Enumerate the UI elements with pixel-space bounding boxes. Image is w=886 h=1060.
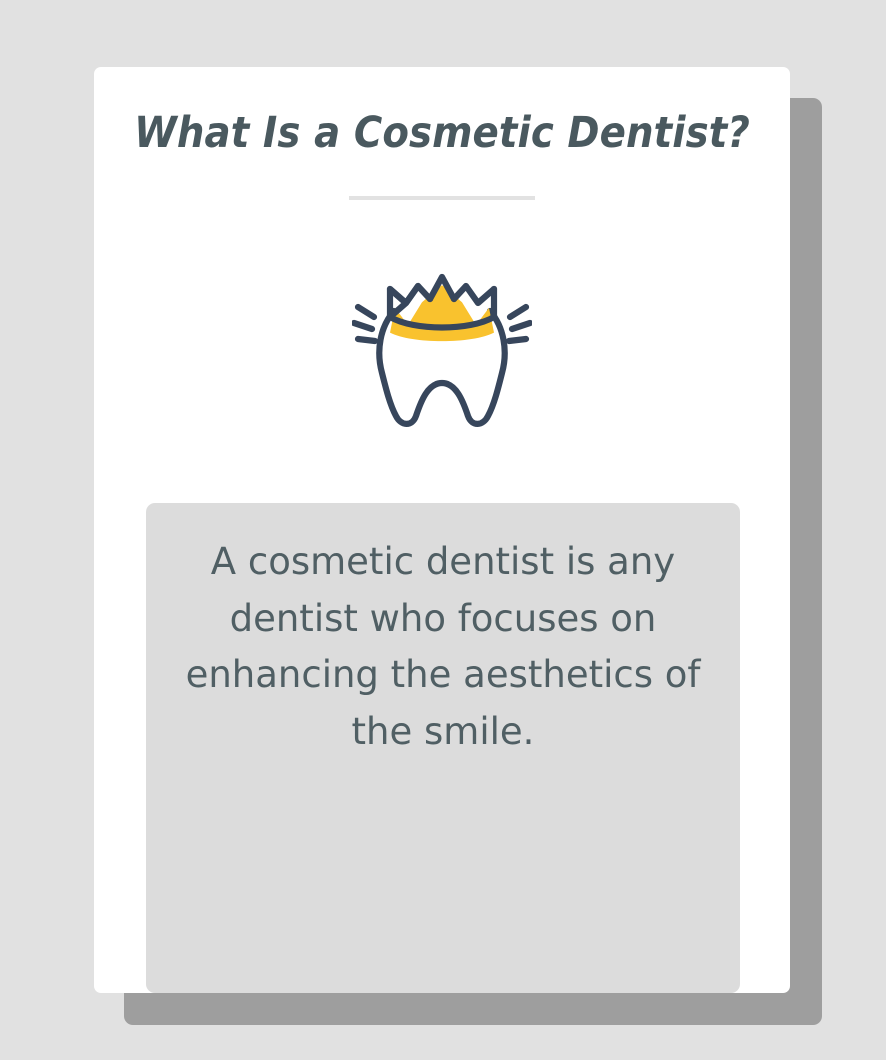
body-text: A cosmetic dentist is any dentist who fo… xyxy=(172,534,714,760)
title-divider xyxy=(349,196,535,200)
crowned-tooth-icon xyxy=(352,273,532,433)
body-text-panel: A cosmetic dentist is any dentist who fo… xyxy=(146,503,740,993)
slide-canvas: What Is a Cosmetic Dentist? xyxy=(0,0,886,1060)
page-title: What Is a Cosmetic Dentist? xyxy=(94,108,790,158)
crown-fill xyxy=(390,285,494,341)
content-card: What Is a Cosmetic Dentist? xyxy=(94,67,790,993)
